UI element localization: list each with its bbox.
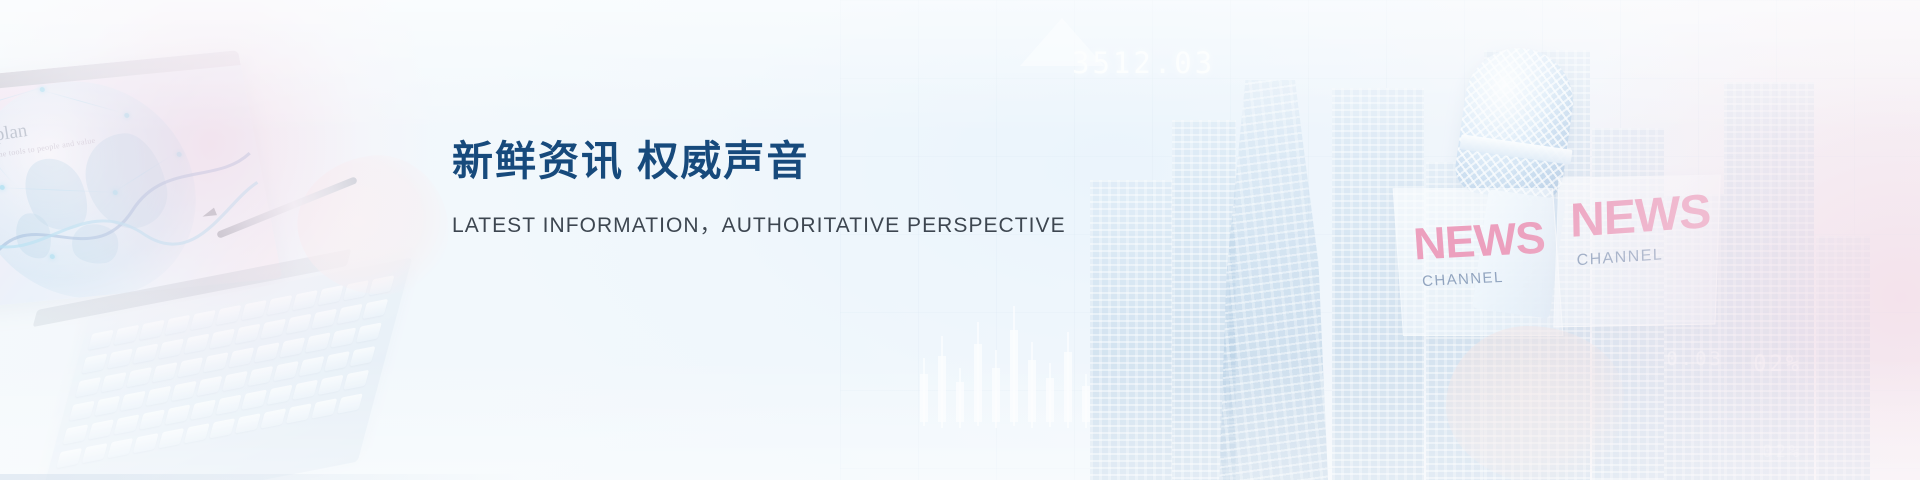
ticker-small-value-3: 02% xyxy=(1762,442,1802,462)
page-subtitle: LATEST INFORMATION，AUTHORITATIVE PERSPEC… xyxy=(452,209,1152,239)
bottom-edge-accent xyxy=(0,474,520,480)
hand-holding-microphone xyxy=(1446,326,1624,480)
news-flag-right: NEWS CHANNEL xyxy=(1553,175,1720,328)
microphone: NEWS CHANNEL NEWS CHANNEL xyxy=(1440,48,1700,480)
news-flag-left: NEWS CHANNEL xyxy=(1393,188,1564,336)
ticker-small-value-2: 02% xyxy=(1753,352,1802,377)
channel-label-left: CHANNEL xyxy=(1422,269,1505,290)
hero-text-block: 新鲜资讯 权威声音 LATEST INFORMATION，AUTHORITATI… xyxy=(452,136,1152,239)
ticker-main-value: 3512.03 xyxy=(1072,46,1215,80)
news-label-left: NEWS xyxy=(1412,212,1546,271)
news-label-right: NEWS xyxy=(1570,184,1711,249)
hero-banner: 3512.03 0.03 02% 02% NEWS CHANNEL NEWS C… xyxy=(0,0,1920,480)
laptop-scene: business plan it's about creating the to… xyxy=(0,28,420,480)
page-title: 新鲜资讯 权威声音 xyxy=(452,136,1152,187)
channel-label-right: CHANNEL xyxy=(1577,246,1664,270)
